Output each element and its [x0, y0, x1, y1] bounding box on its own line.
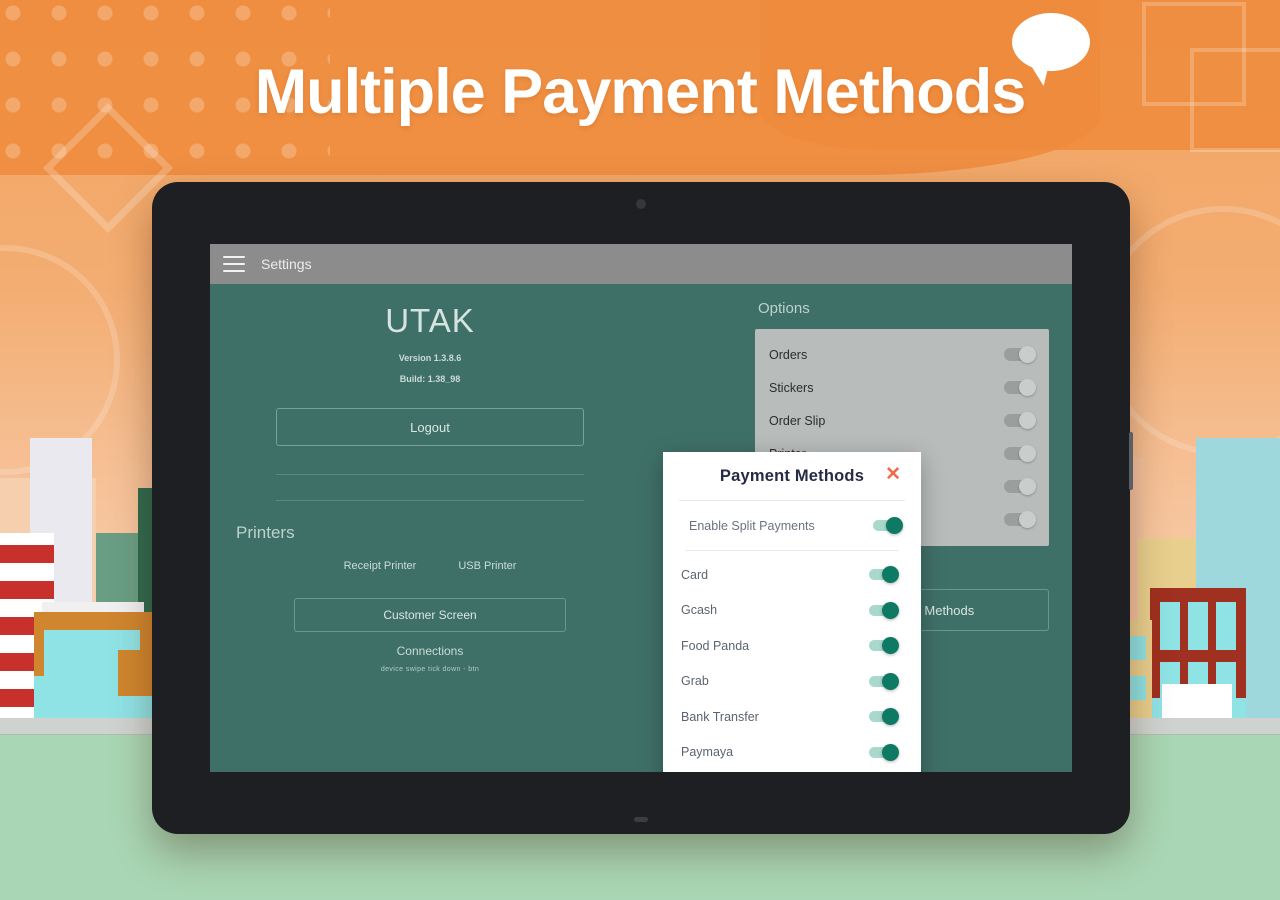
divider-1	[276, 474, 584, 475]
printer-option-usb[interactable]: USB Printer	[458, 560, 516, 572]
payment-method-row[interactable]: Pickaroo	[663, 770, 921, 772]
enable-split-payments-row[interactable]: Enable Split Payments	[663, 501, 921, 550]
payment-method-row[interactable]: Gcash	[663, 593, 921, 629]
payment-methods-list: Card Gcash Food Panda Grab Bank Transfer	[663, 551, 921, 772]
modal-title: Payment Methods	[720, 467, 864, 486]
settings-screen: UTAK Version 1.3.8.6 Build: 1.38_98 Logo…	[210, 284, 1072, 772]
settings-left-column: UTAK Version 1.3.8.6 Build: 1.38_98 Logo…	[230, 284, 630, 673]
payment-method-row[interactable]: Card	[663, 557, 921, 593]
payment-method-row[interactable]: Food Panda	[663, 628, 921, 664]
enable-split-payments-label: Enable Split Payments	[689, 519, 815, 533]
payment-method-row[interactable]: Bank Transfer	[663, 699, 921, 735]
toggle-switch[interactable]	[869, 711, 895, 722]
payment-method-label: Card	[681, 568, 708, 582]
options-row[interactable]: Stickers	[769, 371, 1035, 404]
printer-option-receipt[interactable]: Receipt Printer	[344, 560, 417, 572]
brand-name: UTAK	[230, 302, 630, 340]
modal-header: Payment Methods ✕	[663, 452, 921, 500]
logout-button[interactable]: Logout	[276, 408, 584, 446]
toggle-switch-split-payments[interactable]	[873, 520, 899, 531]
payment-methods-modal: Payment Methods ✕ Enable Split Payments …	[663, 452, 921, 772]
tablet-screen: Settings UTAK Version 1.3.8.6 Build: 1.3…	[210, 244, 1072, 772]
toggle-switch[interactable]	[869, 605, 895, 616]
payment-method-label: Gcash	[681, 603, 717, 617]
page-title: Multiple Payment Methods	[0, 56, 1280, 128]
customer-screen-button[interactable]: Customer Screen	[294, 598, 566, 632]
toggle-switch[interactable]	[1004, 513, 1035, 526]
app-version: Version 1.3.8.6	[230, 353, 630, 363]
payment-method-label: Food Panda	[681, 639, 749, 653]
power-button[interactable]	[1129, 432, 1133, 490]
payment-method-row[interactable]: Grab	[663, 664, 921, 700]
options-section-title: Options	[758, 300, 1055, 317]
toggle-switch[interactable]	[1004, 381, 1035, 394]
hamburger-menu-icon[interactable]	[223, 256, 245, 272]
connections-label: Connections	[230, 644, 630, 658]
options-row[interactable]: Orders	[769, 338, 1035, 371]
options-row-label: Stickers	[769, 381, 813, 395]
printer-options-row: Receipt Printer USB Printer	[230, 560, 630, 572]
divider-2	[276, 500, 584, 501]
app-build: Build: 1.38_98	[230, 374, 630, 384]
tablet-device-frame: Settings UTAK Version 1.3.8.6 Build: 1.3…	[152, 182, 1130, 834]
toggle-switch[interactable]	[1004, 447, 1035, 460]
toggle-switch[interactable]	[1004, 414, 1035, 427]
close-icon[interactable]: ✕	[885, 465, 901, 484]
connections-subtext: device swipe tick down - btn	[230, 666, 630, 673]
payment-method-label: Grab	[681, 674, 709, 688]
options-row-label: Order Slip	[769, 414, 825, 428]
toggle-switch[interactable]	[869, 569, 895, 580]
app-bar: Settings	[210, 244, 1072, 284]
printers-section-title: Printers	[230, 523, 630, 543]
payment-method-row[interactable]: Paymaya	[663, 735, 921, 771]
payment-method-label: Bank Transfer	[681, 710, 759, 724]
payment-method-label: Paymaya	[681, 745, 733, 759]
app-bar-title: Settings	[261, 256, 312, 272]
options-row-label: Orders	[769, 348, 807, 362]
toggle-switch[interactable]	[869, 640, 895, 651]
toggle-switch[interactable]	[1004, 348, 1035, 361]
toggle-switch[interactable]	[1004, 480, 1035, 493]
toggle-switch[interactable]	[869, 747, 895, 758]
toggle-switch[interactable]	[869, 676, 895, 687]
options-row[interactable]: Order Slip	[769, 404, 1035, 437]
